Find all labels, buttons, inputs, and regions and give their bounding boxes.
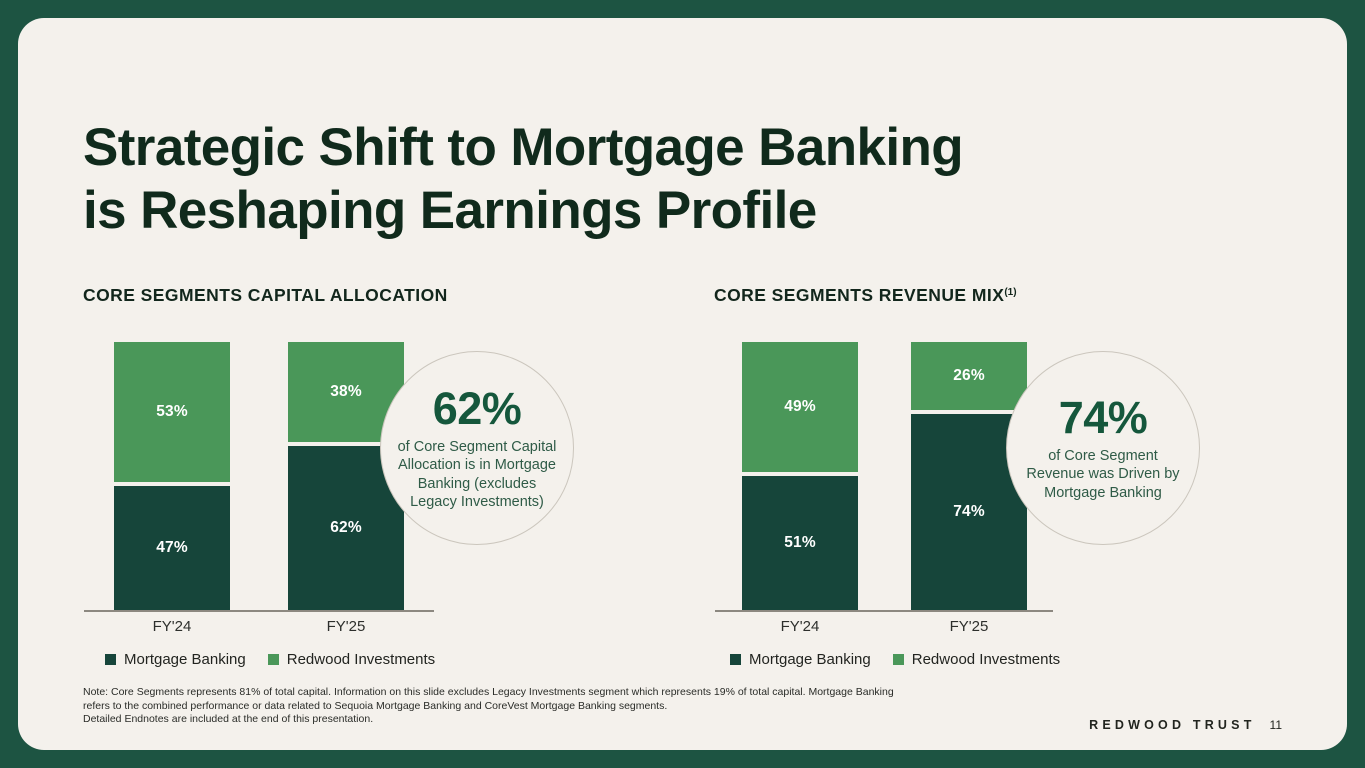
bar-segment-mortgage-banking[interactable]: 51% [742, 476, 858, 610]
chart-heading-superscript: (1) [1004, 287, 1016, 298]
legend-item-redwood-investments[interactable]: Redwood Investments [893, 651, 1060, 668]
page-title-line-1: Strategic Shift to Mortgage Banking [83, 116, 1183, 179]
x-tick-fy24: FY'24 [92, 618, 252, 635]
legend-swatch-icon [893, 654, 904, 665]
slide-frame: Strategic Shift to Mortgage Banking is R… [0, 0, 1365, 768]
bar-value-label: 51% [784, 534, 816, 552]
callout-circle-revenue-mix: 74% of Core Segment Revenue was Driven b… [1006, 351, 1200, 545]
chart-heading-text: CORE SEGMENTS REVENUE MIX [714, 285, 1004, 305]
chart-heading-revenue-mix: CORE SEGMENTS REVENUE MIX(1) [714, 285, 1017, 306]
legend-swatch-icon [730, 654, 741, 665]
chart-heading-text: CORE SEGMENTS CAPITAL ALLOCATION [83, 285, 448, 305]
bar-segment-redwood-investments[interactable]: 53% [114, 342, 230, 482]
legend-swatch-icon [105, 654, 116, 665]
bar-segment-redwood-investments[interactable]: 49% [742, 342, 858, 472]
page-title-line-2: is Reshaping Earnings Profile [83, 179, 1183, 242]
callout-value: 62% [433, 385, 522, 433]
legend-swatch-icon [268, 654, 279, 665]
bar-segment-redwood-investments[interactable]: 26% [911, 342, 1027, 410]
x-tick-fy24: FY'24 [720, 618, 880, 635]
footer-brand: REDWOOD TRUST 11 [1089, 718, 1282, 732]
bar-value-label: 47% [156, 539, 188, 557]
legend-item-redwood-investments[interactable]: Redwood Investments [268, 651, 435, 668]
bar-group-fy24[interactable]: 49% 51% [742, 342, 858, 610]
callout-value: 74% [1059, 394, 1148, 442]
callout-description: of Core Segment Capital Allocation is in… [381, 438, 573, 512]
footnote-line-2: refers to the combined performance or da… [83, 700, 943, 714]
x-tick-fy25: FY'25 [889, 618, 1049, 635]
footnote-line-3: Detailed Endnotes are included at the en… [83, 713, 943, 727]
legend-label: Redwood Investments [912, 651, 1060, 668]
legend-label: Redwood Investments [287, 651, 435, 668]
bar-value-label: 26% [953, 367, 985, 385]
bar-value-label: 53% [156, 403, 188, 421]
legend-label: Mortgage Banking [124, 651, 246, 668]
bar-segment-mortgage-banking[interactable]: 47% [114, 486, 230, 610]
chart-legend-revenue-mix: Mortgage Banking Redwood Investments [730, 651, 1060, 668]
x-axis-line [715, 610, 1053, 612]
chart-plot-capital-allocation: 53% 47% 38% 62% 62% [83, 343, 683, 613]
chart-plot-revenue-mix: 49% 51% 26% 74% 74% [714, 343, 1314, 613]
callout-circle-capital-allocation: 62% of Core Segment Capital Allocation i… [380, 351, 574, 545]
page-number: 11 [1270, 718, 1282, 732]
chart-heading-capital-allocation: CORE SEGMENTS CAPITAL ALLOCATION [83, 285, 448, 306]
bar-value-label: 62% [330, 519, 362, 537]
chart-legend-capital-allocation: Mortgage Banking Redwood Investments [105, 651, 435, 668]
footnote: Note: Core Segments represents 81% of to… [83, 686, 943, 727]
legend-item-mortgage-banking[interactable]: Mortgage Banking [730, 651, 871, 668]
callout-description: of Core Segment Revenue was Driven by Mo… [1007, 447, 1199, 503]
brand-name: REDWOOD TRUST [1089, 718, 1255, 732]
footnote-line-1: Note: Core Segments represents 81% of to… [83, 686, 943, 700]
x-tick-fy25: FY'25 [266, 618, 426, 635]
x-axis-line [84, 610, 434, 612]
page-title: Strategic Shift to Mortgage Banking is R… [83, 116, 1183, 242]
bar-group-fy24[interactable]: 53% 47% [114, 342, 230, 610]
slide-card: Strategic Shift to Mortgage Banking is R… [18, 18, 1347, 750]
bar-value-label: 38% [330, 383, 362, 401]
legend-label: Mortgage Banking [749, 651, 871, 668]
bar-value-label: 49% [784, 398, 816, 416]
bar-value-label: 74% [953, 503, 985, 521]
legend-item-mortgage-banking[interactable]: Mortgage Banking [105, 651, 246, 668]
